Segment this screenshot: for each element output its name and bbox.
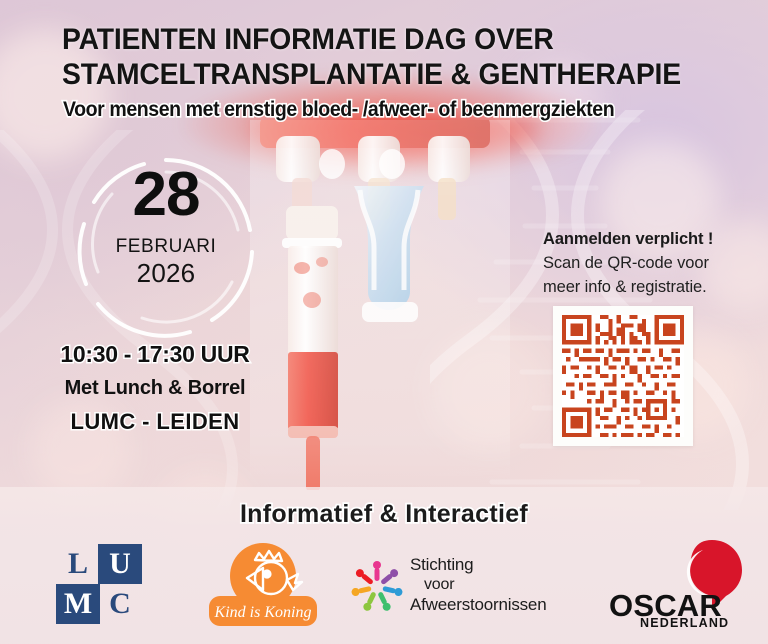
event-time: 10:30 - 17:30 UUR <box>30 341 280 368</box>
event-year: 2026 <box>72 258 260 289</box>
logo-lumc: L U M C <box>52 542 154 626</box>
partner-logos: L U M C Kind is Koning <box>0 534 768 639</box>
event-venue: LUMC - LEIDEN <box>30 409 280 435</box>
poster-subtitle: Voor mensen met ernstige bloed- /afweer-… <box>63 97 695 122</box>
title-line-1: PATIENTEN INFORMATIE DAG OVER <box>62 23 554 56</box>
kind-is-koning-wordmark: Kind is Koning <box>214 604 312 621</box>
stichting-line-1: Stichting <box>410 555 546 575</box>
stichting-line-2: voor <box>410 575 546 595</box>
logo-stichting-voor-afweerstoornissen: Stichting voor Afweerstoornissen <box>348 554 578 620</box>
lumc-letter-c: C <box>98 584 142 624</box>
event-month: FEBRUARI <box>72 236 260 258</box>
pinwheel-icon <box>348 556 406 618</box>
page-title: PATIENTEN INFORMATIE DAG OVER STAMCELTRA… <box>62 22 696 92</box>
registration-line-2: meer info & registratie. <box>543 278 707 297</box>
registration-line-1: Scan de QR-code voor <box>543 254 709 273</box>
oscar-subtitle: NEDERLAND <box>640 616 729 630</box>
event-day: 28 <box>72 160 260 230</box>
stichting-line-3: Afweerstoornissen <box>410 595 546 615</box>
qr-code[interactable] <box>553 306 693 446</box>
lumc-letter-u: U <box>98 544 142 584</box>
lumc-letter-l: L <box>56 544 100 584</box>
title-line-2: STAMCELTRANSPLANTATIE & GENTHERAPIE <box>62 57 696 92</box>
lumc-letter-m: M <box>56 584 100 624</box>
event-poster: PATIENTEN INFORMATIE DAG OVER STAMCELTRA… <box>0 0 768 644</box>
poster-tagline: Informatief & Interactief <box>0 500 768 529</box>
transfusion-apparatus-graphic <box>250 120 510 490</box>
qr-code-graphic <box>562 315 684 437</box>
registration-headline: Aanmelden verplicht ! <box>543 230 713 249</box>
logo-oscar-nederland: OSCAR NEDERLAND <box>608 536 748 632</box>
event-extras: Met Lunch & Borrel <box>30 377 280 400</box>
logo-kind-is-koning: Kind is Koning <box>203 538 323 630</box>
